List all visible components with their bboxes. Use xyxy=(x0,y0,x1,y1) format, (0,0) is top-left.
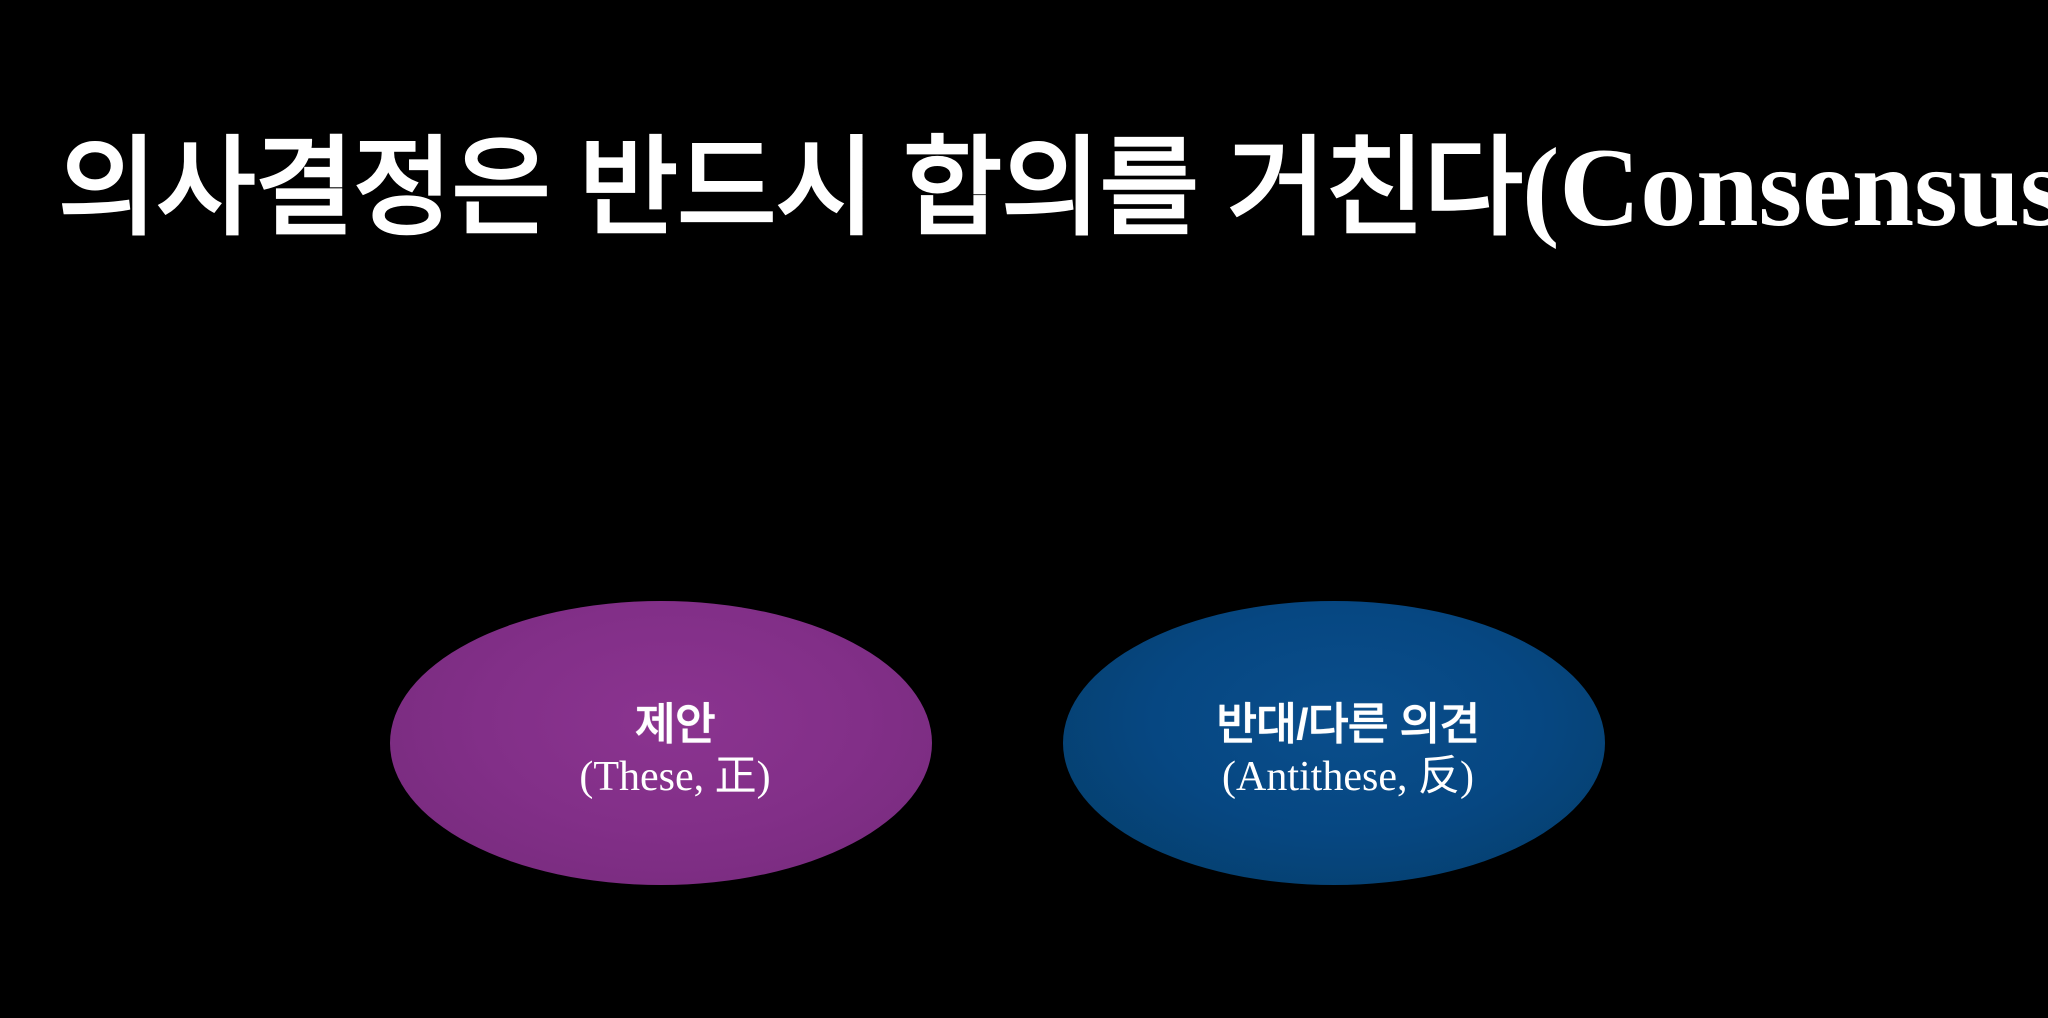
shape-sublabel-proposal: (These, 正) xyxy=(579,754,770,801)
presentation-slide: 의사결정은 반드시 합의를 거친다(Consensus) 제안 (These, … xyxy=(0,0,2048,1018)
page-title: 의사결정은 반드시 합의를 거친다(Consensus) xyxy=(58,118,2018,258)
shape-sublabel-objection: (Antithese, 反) xyxy=(1216,754,1479,801)
page-title-korean: 의사결정은 반드시 합의를 거친다 xyxy=(58,127,1522,248)
shape-label-group-proposal: 제안 (These, 正) xyxy=(579,701,770,802)
shape-ellipse-objection[interactable]: 반대/다른 의견 (Antithese, 反) xyxy=(1063,601,1605,885)
shape-ellipse-proposal[interactable]: 제안 (These, 正) xyxy=(390,601,932,885)
shape-label-group-objection: 반대/다른 의견 (Antithese, 反) xyxy=(1216,701,1479,802)
page-title-latin: (Consensus) xyxy=(1522,126,2048,250)
shape-label-objection: 반대/다른 의견 xyxy=(1216,701,1479,749)
shape-label-proposal: 제안 xyxy=(579,701,770,749)
